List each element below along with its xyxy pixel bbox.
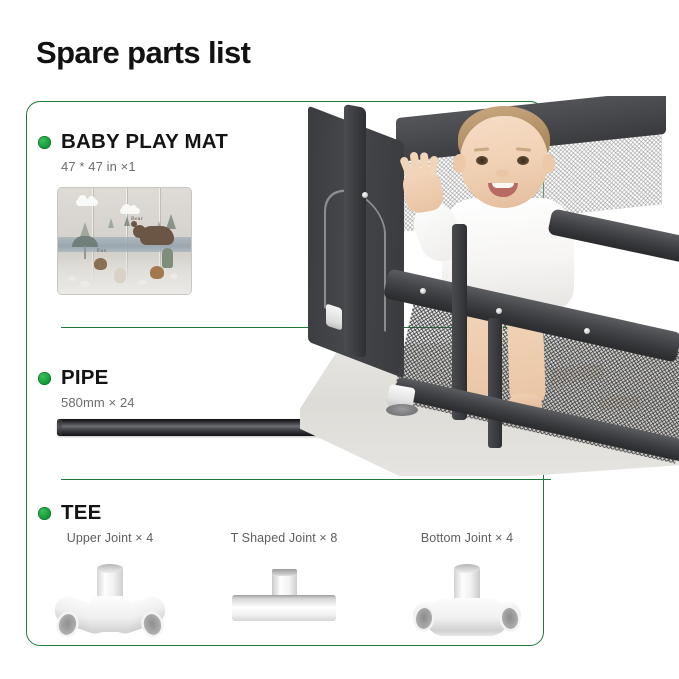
bear-icon [140,226,174,245]
tree-icon [108,218,114,228]
section-title-tee: TEE [61,501,101,525]
joint-crossbar [232,595,336,621]
joint-column-t-shaped: T Shaped Joint × 8 [209,531,359,627]
mat-word-bear: Bear [131,216,143,222]
joint-stem-opening [272,569,297,576]
play-mat-artwork: Bear Fox [57,187,192,295]
section-header: TEE [38,501,101,525]
joint-stem-opening [454,564,480,573]
pipe-cap-left [57,419,62,436]
mat-word-fox: Fox [97,248,107,254]
section-pipe: PIPE 580mm × 24 [38,366,135,410]
joint-label-upper: Upper Joint × 4 [35,531,185,545]
baby-teeth [492,183,514,188]
upper-joint-illustration [56,565,164,641]
t-shaped-joint-illustration [232,565,336,627]
joint-column-upper: Upper Joint × 4 [35,531,185,641]
joint-label-bottom: Bottom Joint × 4 [392,531,542,545]
baby-ear-left [453,154,466,173]
umbrella-icon [72,236,98,247]
joint-hub [89,596,131,632]
playpen-rivet [420,288,426,294]
tree-icon [162,248,173,268]
joint-base [426,598,508,636]
baby-eye-left [476,156,488,165]
baby-ear-right [542,154,555,173]
baby-nose [496,169,509,177]
rock-icon [138,280,147,285]
baby-eye-right [517,156,529,165]
joint-column-bottom: Bottom Joint × 4 [392,531,542,641]
section-title-baby-play-mat: BABY PLAY MAT [61,130,228,154]
section-subtitle-baby-play-mat: 47 * 47 in ×1 [61,159,228,174]
infographic-page: Spare parts list BABY PLAY MAT 47 * 47 i… [0,0,679,679]
section-header: BABY PLAY MAT [38,130,228,154]
play-mat-thumbnail: Bear Fox [57,187,192,295]
section-header: PIPE [38,366,135,390]
joint-stem-opening [97,564,123,573]
tree-icon [80,222,90,237]
cloud-icon [76,199,98,206]
rock-icon [170,274,178,279]
playpen-rivet [362,192,368,198]
section-subtitle-pipe: 580mm × 24 [61,395,135,410]
tree-icon [124,216,130,226]
baby-finger [428,155,439,178]
bullet-dot-icon [38,136,51,149]
section-divider-2 [61,479,551,480]
bullet-dot-icon [38,372,51,385]
section-baby-play-mat: BABY PLAY MAT 47 * 47 in ×1 [38,130,228,174]
playpen-foot-pad [386,404,418,416]
critter-icon [114,268,126,283]
playpen-rivet [584,328,590,334]
playpen-right-leg [488,318,502,448]
cloud-icon [120,208,140,214]
section-tee: TEE [38,501,101,525]
bottom-joint-illustration [414,565,520,641]
playpen-rivet [496,308,502,314]
section-title-pipe: PIPE [61,366,109,390]
rock-icon [80,281,90,287]
playpen-corner-post [344,104,366,358]
rock-icon [68,276,76,281]
bullet-dot-icon [38,507,51,520]
baby-playpen-with-baby-photo [300,96,679,476]
joint-label-t-shaped: T Shaped Joint × 8 [209,531,359,545]
page-title: Spare parts list [36,36,250,70]
critter-icon [94,258,107,270]
critter-icon [150,266,164,279]
